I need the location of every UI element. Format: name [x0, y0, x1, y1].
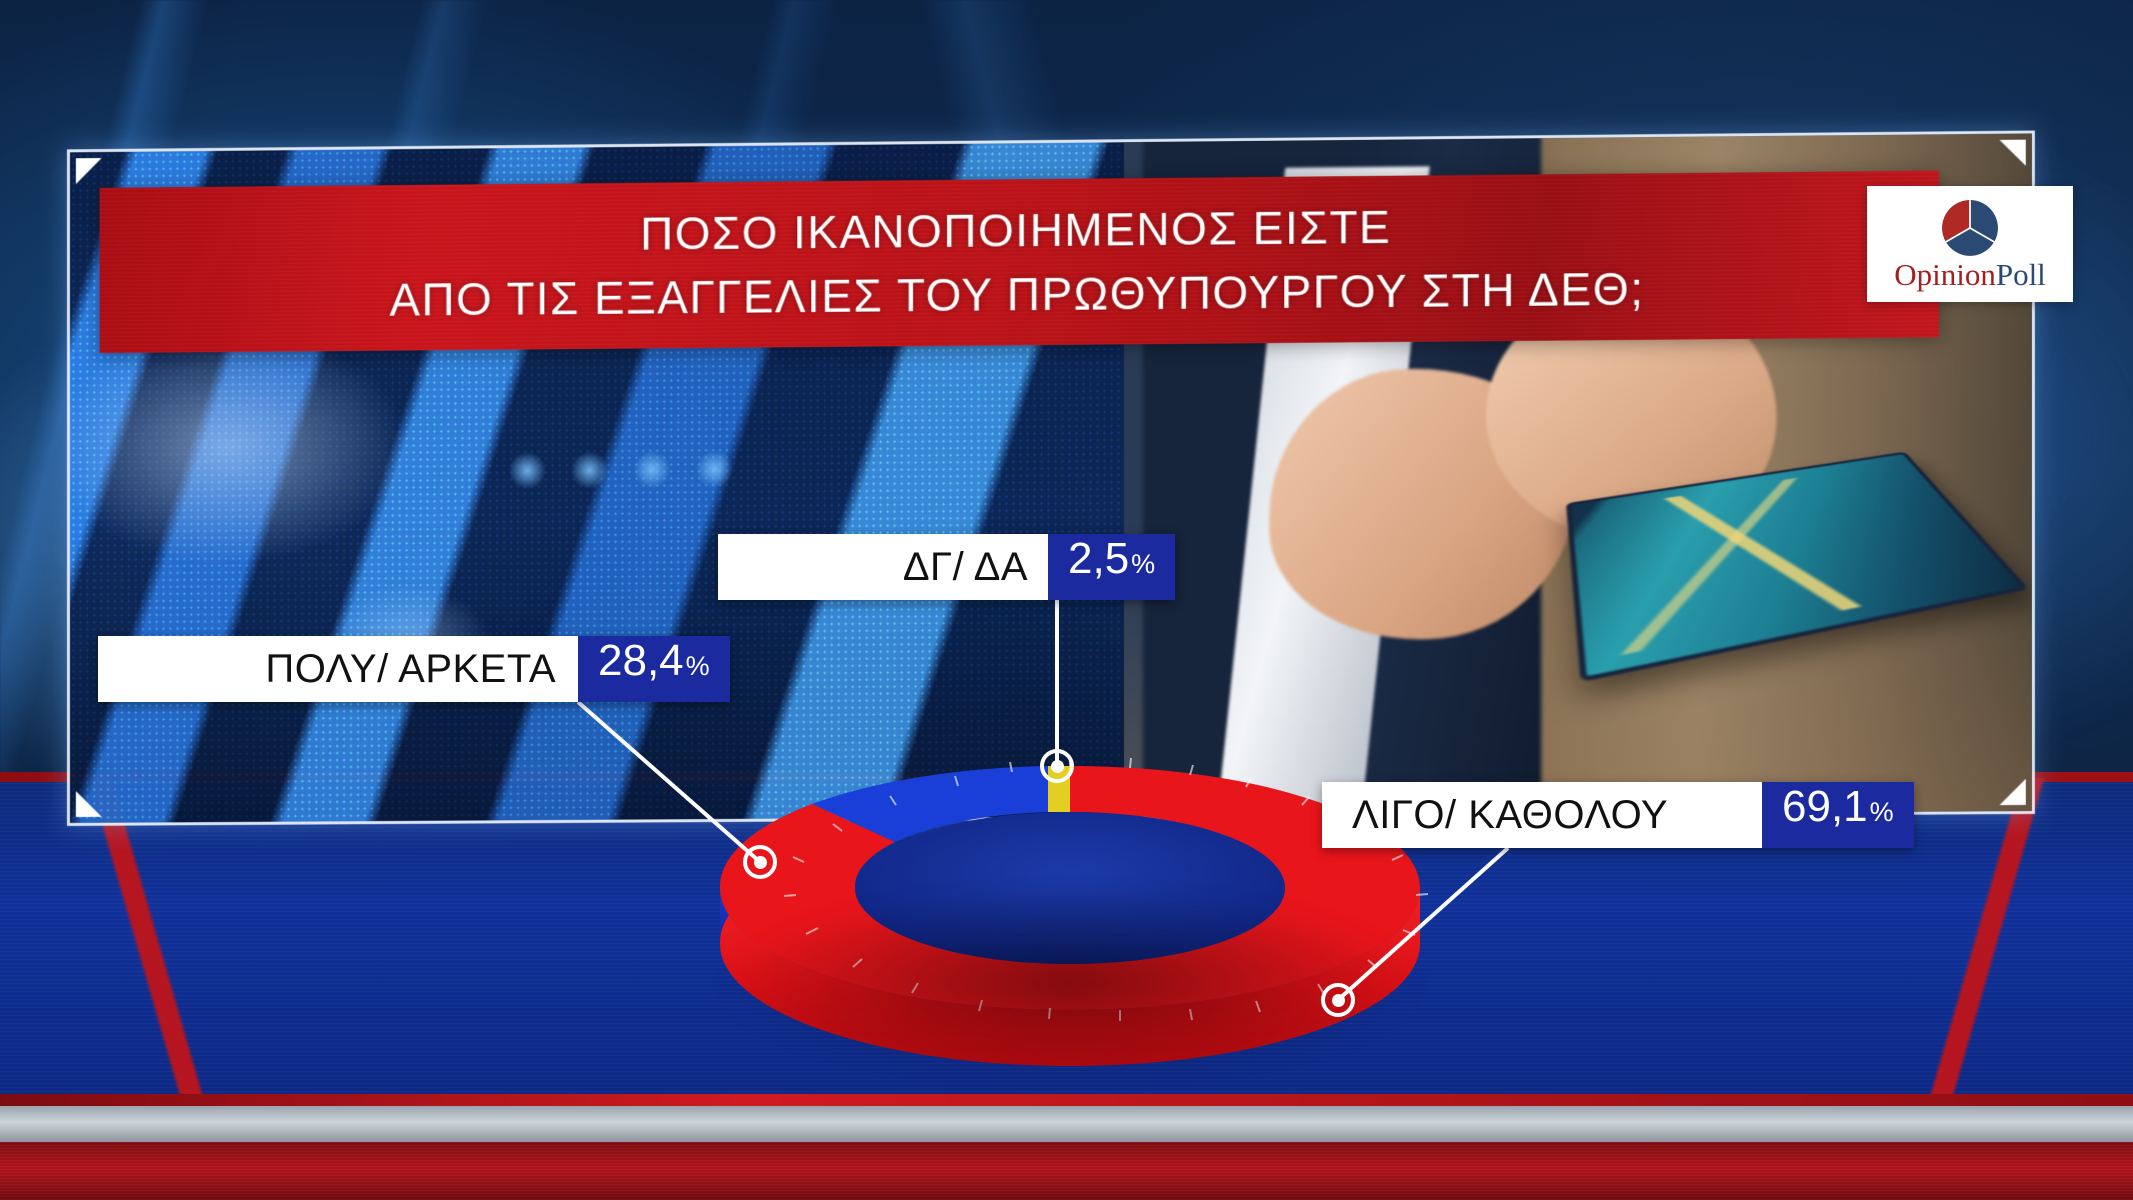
callout-dgda[interactable]: ΔΓ/ ΔΑ 2,5%: [718, 534, 1175, 600]
pie-chart-logo-icon: [1941, 199, 1999, 257]
callout-ligo-label: ΛΙΓΟ/ ΚΑΘΟΛΟΥ: [1322, 782, 1762, 848]
datapoint-node-dgda[interactable]: [1040, 749, 1074, 783]
logo-word-opinion: Opinion: [1894, 257, 1996, 292]
broadcast-graphic: ΠΟΣΟ ΙΚΑΝΟΠΟΙΗΜΕΝΟΣ ΕΙΣΤΕ ΑΠΟ ΤΙΣ ΕΞΑΓΓΕ…: [0, 0, 2133, 1200]
callout-dgda-number: 2,5: [1068, 534, 1129, 584]
panel-corner-marker-bottom-right: [1985, 765, 2025, 805]
title-bar: ΠΟΣΟ ΙΚΑΝΟΠΟΙΗΜΕΝΟΣ ΕΙΣΤΕ ΑΠΟ ΤΙΣ ΕΞΑΓΓΕ…: [100, 171, 1939, 353]
callout-ligo-value: 69,1%: [1762, 782, 1914, 848]
title-line-2: ΑΠΟ ΤΙΣ ΕΞΑΓΓΕΛΙΕΣ ΤΟΥ ΠΡΩΘΥΠΟΥΡΓΟΥ ΣΤΗ …: [390, 262, 1645, 327]
callout-ligo-katholou[interactable]: ΛΙΓΟ/ ΚΑΘΟΛΟΥ 69,1%: [1322, 782, 1914, 848]
callout-poly-value: 28,4%: [578, 636, 730, 702]
callout-poly-percent: %: [686, 651, 710, 682]
floor-bottom-red-band: [0, 1142, 2133, 1200]
callout-dgda-label: ΔΓ/ ΔΑ: [718, 534, 1048, 600]
logo-word-poll: Poll: [1996, 257, 2046, 292]
floor-silver-strip: [0, 1106, 2133, 1142]
panel-corner-marker-top-left: [76, 158, 116, 198]
datapoint-node-ligo[interactable]: [1321, 983, 1355, 1017]
callout-poly-label: ΠΟΛΥ/ ΑΡΚΕΤΑ: [98, 636, 578, 702]
callout-dgda-value: 2,5%: [1048, 534, 1175, 600]
donut-drop-shadow: [714, 888, 1426, 1078]
opinionpoll-wordmark: OpinionPoll: [1894, 259, 2046, 290]
datapoint-node-poly[interactable]: [743, 845, 777, 879]
callout-dgda-percent: %: [1131, 549, 1155, 580]
panel-corner-marker-bottom-left: [76, 777, 116, 817]
graphic-panel: ΠΟΣΟ ΙΚΑΝΟΠΟΙΗΜΕΝΟΣ ΕΙΣΤΕ ΑΠΟ ΤΙΣ ΕΞΑΓΓΕ…: [67, 131, 2035, 826]
callout-ligo-number: 69,1: [1782, 782, 1868, 832]
callout-ligo-percent: %: [1870, 797, 1894, 828]
callout-poly-number: 28,4: [598, 636, 684, 686]
callout-poly-arketa[interactable]: ΠΟΛΥ/ ΑΡΚΕΤΑ 28,4%: [98, 636, 730, 702]
title-line-1: ΠΟΣΟ ΙΚΑΝΟΠΟΙΗΜΕΝΟΣ ΕΙΣΤΕ: [640, 200, 1391, 261]
panel-corner-marker-top-right: [1985, 140, 2025, 181]
opinionpoll-logo: OpinionPoll: [1867, 186, 2073, 302]
